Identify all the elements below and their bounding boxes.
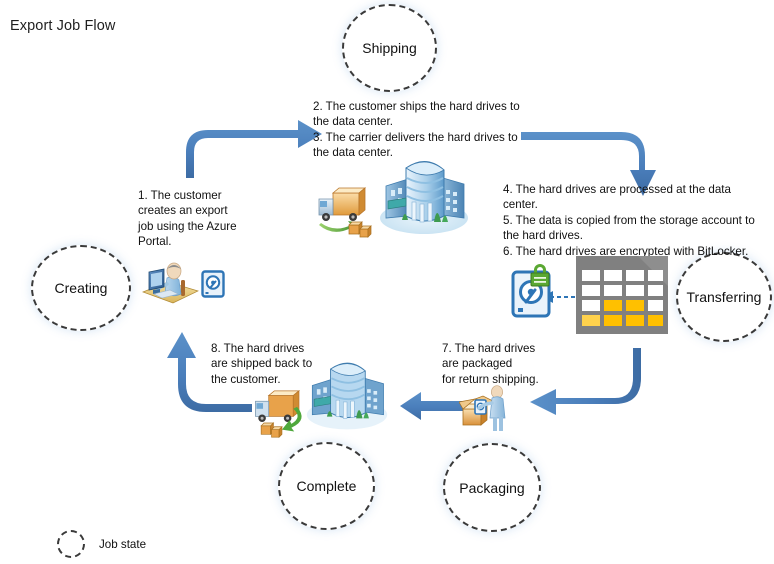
state-label-complete: Complete xyxy=(297,478,357,494)
state-label-transferring: Transferring xyxy=(687,289,762,305)
legend-label: Job state xyxy=(99,538,146,551)
data-center-building-icon-bottom xyxy=(305,348,389,434)
state-circle-shipping[interactable]: Shipping xyxy=(342,4,437,92)
legend: Job state xyxy=(57,530,146,558)
arrow-packaging-to-complete xyxy=(400,392,464,420)
delivery-truck-icon-bottom xyxy=(249,388,313,440)
state-circle-complete[interactable]: Complete xyxy=(278,442,375,530)
state-label-creating: Creating xyxy=(55,280,108,296)
delivery-truck-icon-top xyxy=(315,185,377,240)
page-title: Export Job Flow xyxy=(10,18,115,34)
arrow-creating-to-shipping xyxy=(186,120,322,178)
legend-state-icon xyxy=(57,530,85,558)
user-at-computer-icon xyxy=(140,258,202,310)
step-text-4-6: 4. The hard drives are processed at the … xyxy=(503,182,763,259)
state-label-packaging: Packaging xyxy=(459,480,524,496)
diagram-canvas: Export Job Flow xyxy=(0,0,774,564)
storage-table-icon xyxy=(576,256,668,334)
state-label-shipping: Shipping xyxy=(362,40,417,56)
encrypted-hard-drive-icon xyxy=(510,262,556,320)
state-circle-packaging[interactable]: Packaging xyxy=(443,443,541,532)
person-packing-box-icon xyxy=(459,383,515,435)
step-text-1: 1. The customer creates an export job us… xyxy=(138,188,258,250)
state-circle-creating[interactable]: Creating xyxy=(31,245,131,331)
data-center-building-icon-top xyxy=(378,146,470,238)
step-text-7: 7. The hard drives are packaged for retu… xyxy=(442,341,557,387)
hard-drive-icon xyxy=(201,270,225,298)
state-circle-transferring[interactable]: Transferring xyxy=(676,252,772,342)
